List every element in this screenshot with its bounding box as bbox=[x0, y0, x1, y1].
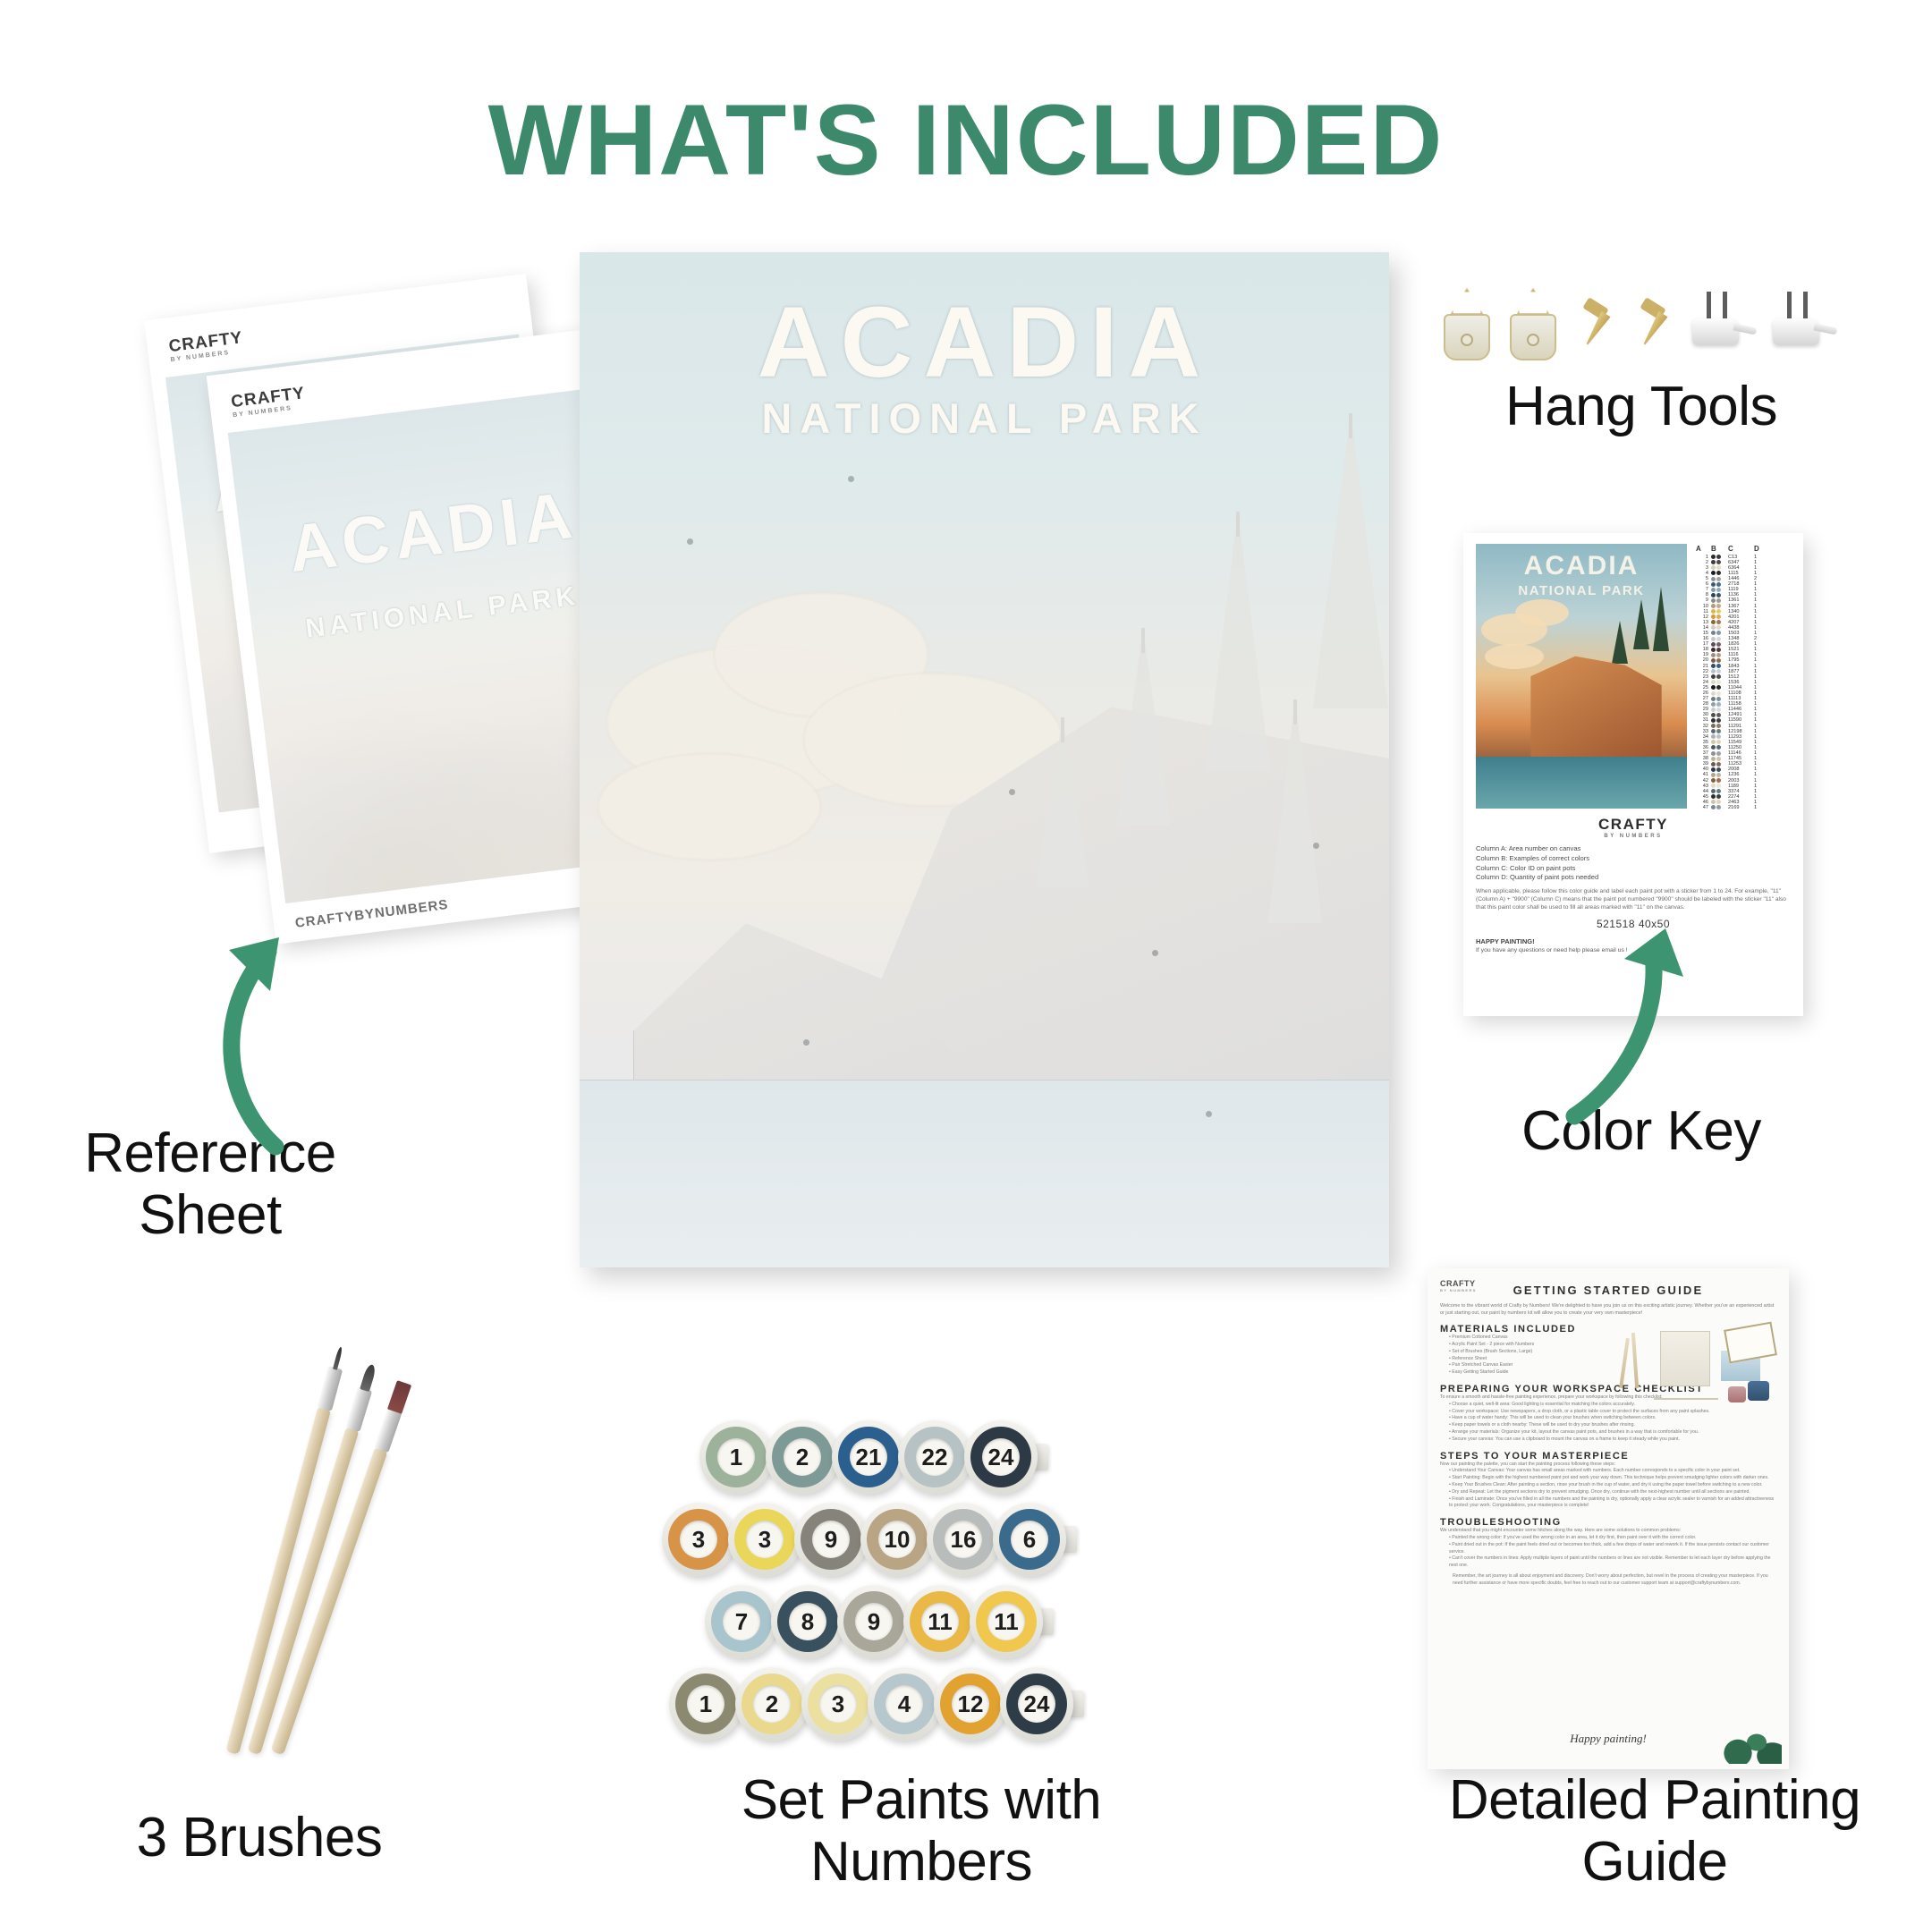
number-dot bbox=[1313, 843, 1319, 849]
paint-pot: 7 bbox=[705, 1585, 778, 1658]
color-key-swatches bbox=[1711, 702, 1725, 707]
canvas-title: ACADIA bbox=[580, 284, 1389, 400]
paint-pot: 2 bbox=[735, 1667, 809, 1741]
paint-pots-group: 1221222433910166789111112341224 bbox=[662, 1420, 1216, 1751]
paint-pot: 11 bbox=[903, 1585, 977, 1658]
paint-pot: 1 bbox=[669, 1667, 742, 1741]
tree-4 bbox=[1036, 717, 1089, 887]
d-ring-hanger-icon bbox=[1442, 287, 1492, 364]
number-dot bbox=[687, 538, 693, 545]
paint-pot: 6 bbox=[993, 1503, 1066, 1576]
paint-pot-number: 21 bbox=[850, 1438, 887, 1476]
color-key-poster-subtitle: NATIONAL PARK bbox=[1476, 583, 1687, 598]
number-dot bbox=[848, 476, 854, 482]
guide-workspace-item: • Secure your canvas: You can use a clip… bbox=[1449, 1436, 1776, 1444]
guide-illustrations bbox=[1606, 1324, 1776, 1422]
wall-hook-icon bbox=[1771, 292, 1835, 360]
legend-column-c: Column C: Color ID on paint pots bbox=[1476, 864, 1791, 874]
paint-pot-number: 2 bbox=[753, 1685, 791, 1723]
paint-pot-number: 10 bbox=[878, 1521, 916, 1558]
color-key-swatches bbox=[1711, 631, 1725, 635]
color-key-swatches bbox=[1711, 789, 1725, 793]
color-key-row: 4721691 bbox=[1696, 805, 1791, 810]
color-key-swatches bbox=[1711, 577, 1725, 581]
guide-title: GETTING STARTED GUIDE bbox=[1440, 1284, 1776, 1297]
paint-pot: 21 bbox=[832, 1420, 905, 1494]
paint-pot-number: 3 bbox=[819, 1685, 857, 1723]
color-key-swatches bbox=[1711, 691, 1725, 696]
wall-hook-icon bbox=[1690, 292, 1755, 360]
paint-pot: 10 bbox=[860, 1503, 934, 1576]
color-key-swatches bbox=[1711, 784, 1725, 788]
paint-pot-row: 12212224 bbox=[699, 1420, 1030, 1494]
paint-pot-number: 9 bbox=[812, 1521, 850, 1558]
paint-pot-number: 11 bbox=[987, 1603, 1025, 1640]
guide-trouble-item: • Painted the wrong color: If you've use… bbox=[1449, 1535, 1776, 1542]
color-key-legend: Column A: Area number on canvas Column B… bbox=[1476, 844, 1791, 883]
guide-trouble-item: • Can't cover the numbers in lines: Appl… bbox=[1449, 1555, 1776, 1570]
color-key-swatches bbox=[1711, 718, 1725, 723]
guide-paint-pot-icon bbox=[1728, 1386, 1746, 1402]
paint-pot: 12 bbox=[934, 1667, 1007, 1741]
guide-step-item: • Dry and Repeat: Let the pigment sectio… bbox=[1449, 1489, 1776, 1496]
crafty-logo: CRAFTY BY NUMBERS bbox=[168, 328, 245, 363]
tree-2 bbox=[1206, 512, 1270, 771]
paint-pot: 22 bbox=[898, 1420, 971, 1494]
color-key-swatches bbox=[1711, 625, 1725, 630]
color-key-swatches bbox=[1711, 642, 1725, 647]
color-key-swatches bbox=[1711, 604, 1725, 608]
guide-intro: Welcome to the vibrant world of Crafty b… bbox=[1440, 1302, 1776, 1317]
guide-heading-trouble: TROUBLESHOOTING bbox=[1440, 1517, 1776, 1528]
color-key-swatches bbox=[1711, 620, 1725, 624]
brush-fine bbox=[225, 1406, 331, 1755]
guide-paint-pot-icon bbox=[1748, 1381, 1769, 1401]
color-key-swatches bbox=[1711, 637, 1725, 641]
d-ring-hanger-icon bbox=[1508, 287, 1558, 364]
paint-pot: 3 bbox=[662, 1503, 735, 1576]
color-key-swatches bbox=[1711, 658, 1725, 663]
paint-pot: 24 bbox=[1000, 1667, 1073, 1741]
water-area bbox=[580, 1080, 1389, 1267]
canvas-subtitle: NATIONAL PARK bbox=[580, 394, 1389, 443]
color-key-swatches bbox=[1711, 724, 1725, 728]
legend-column-d: Column D: Quantity of paint pots needed bbox=[1476, 873, 1791, 883]
infographic-canvas: WHAT'S INCLUDED CRAFTY BY NUMBERS ACADIA… bbox=[0, 0, 1932, 1932]
paint-pot-number: 1 bbox=[717, 1438, 755, 1476]
legend-column-b: Column B: Examples of correct colors bbox=[1476, 854, 1791, 864]
color-key-swatches bbox=[1711, 588, 1725, 592]
arrow-color-key bbox=[1512, 903, 1744, 1136]
color-key-swatches bbox=[1711, 757, 1725, 761]
guide-heading-steps: STEPS TO YOUR MASTERPIECE bbox=[1440, 1451, 1776, 1462]
guide-step-item: • Start Painting: Begin with the highest… bbox=[1449, 1475, 1776, 1482]
tree-3 bbox=[1116, 628, 1170, 825]
hang-tools-group bbox=[1442, 274, 1835, 377]
paint-pot: 16 bbox=[927, 1503, 1000, 1576]
paint-pot: 3 bbox=[801, 1667, 875, 1741]
color-key-area-number: 47 bbox=[1696, 805, 1708, 810]
guide-workspace-item: • Arrange your materials: Organize your … bbox=[1449, 1429, 1776, 1436]
guide-step-item: • Keep Your Brushes Clean: After paintin… bbox=[1449, 1482, 1776, 1489]
color-key-swatches bbox=[1711, 680, 1725, 684]
color-key-swatches bbox=[1711, 648, 1725, 652]
paint-pot-number: 8 bbox=[789, 1603, 826, 1640]
paint-pot-number: 24 bbox=[1018, 1685, 1055, 1723]
cloud-4 bbox=[597, 753, 821, 860]
paint-pot: 3 bbox=[728, 1503, 801, 1576]
paint-pot-row: 12341224 bbox=[669, 1667, 1066, 1741]
paint-pot-number: 3 bbox=[746, 1521, 784, 1558]
paint-pot: 11 bbox=[970, 1585, 1043, 1658]
label-paints: Set Paints with Numbers bbox=[608, 1769, 1234, 1894]
color-key-swatches bbox=[1711, 555, 1725, 559]
legend-column-a: Column A: Area number on canvas bbox=[1476, 844, 1791, 854]
color-key-swatches bbox=[1711, 565, 1725, 570]
color-key-swatches bbox=[1711, 609, 1725, 614]
color-key-swatches bbox=[1711, 685, 1725, 690]
paint-pot-number: 9 bbox=[855, 1603, 893, 1640]
color-key-quantity: 1 bbox=[1754, 805, 1765, 810]
paint-pot: 9 bbox=[837, 1585, 911, 1658]
paint-pot-number: 4 bbox=[885, 1685, 923, 1723]
getting-started-guide: CRAFTY BY NUMBERS GETTING STARTED GUIDE … bbox=[1428, 1268, 1789, 1769]
paint-pot-row: 33910166 bbox=[662, 1503, 1059, 1576]
tree-1 bbox=[1313, 413, 1388, 708]
main-canvas-preview: ACADIA NATIONAL PARK bbox=[580, 252, 1389, 1267]
guide-step-item: • Finish and Laminate: Once you've fille… bbox=[1449, 1496, 1776, 1511]
guide-frame-icon bbox=[1724, 1322, 1777, 1364]
crafty-logo-front: CRAFTY BY NUMBERS bbox=[230, 384, 307, 419]
color-key-color-id: 2169 bbox=[1728, 805, 1751, 810]
number-dot bbox=[1152, 950, 1158, 956]
guide-trouble-item: • Paint dried out in the pot: If the pai… bbox=[1449, 1542, 1776, 1556]
brushes-group bbox=[134, 1315, 429, 1753]
color-key-swatches bbox=[1711, 805, 1725, 809]
paint-pot: 24 bbox=[964, 1420, 1038, 1494]
color-key-swatches bbox=[1711, 697, 1725, 701]
color-key-swatches bbox=[1711, 674, 1725, 679]
color-key-swatches bbox=[1711, 734, 1725, 739]
guide-workspace-item: • Keep paper towels or a cloth nearby: T… bbox=[1449, 1422, 1776, 1429]
guide-closing: Remember, the art journey is all about e… bbox=[1453, 1573, 1776, 1588]
paint-pot: 9 bbox=[794, 1503, 868, 1576]
color-key-swatches bbox=[1711, 593, 1725, 597]
color-key-swatches bbox=[1711, 767, 1725, 772]
color-key-swatches bbox=[1711, 729, 1725, 733]
label-brushes: 3 Brushes bbox=[27, 1807, 492, 1868]
paint-pot-number: 2 bbox=[784, 1438, 821, 1476]
paint-pot-number: 3 bbox=[680, 1521, 717, 1558]
paint-pot-number: 24 bbox=[982, 1438, 1020, 1476]
color-key-swatches bbox=[1711, 664, 1725, 668]
reference-subtitle-front: NATIONAL PARK bbox=[250, 574, 634, 651]
number-dot bbox=[803, 1039, 809, 1046]
color-key-table-header: A B C D bbox=[1696, 546, 1791, 554]
color-key-swatches bbox=[1711, 740, 1725, 744]
label-guide: Detailed Painting Guide bbox=[1377, 1769, 1932, 1894]
paint-pot: 8 bbox=[771, 1585, 844, 1658]
number-dot bbox=[1206, 1111, 1212, 1117]
color-key-poster-title: ACADIA bbox=[1476, 551, 1687, 581]
color-key-swatches bbox=[1711, 582, 1725, 587]
guide-steps-intro: Now our painting the palette, you can st… bbox=[1440, 1462, 1776, 1469]
color-key-swatches bbox=[1711, 713, 1725, 717]
color-key-swatches bbox=[1711, 778, 1725, 783]
guide-brush-icon bbox=[1631, 1333, 1639, 1388]
guide-easel-icon bbox=[1660, 1331, 1710, 1386]
paint-pot-number: 11 bbox=[921, 1603, 959, 1640]
color-key-swatches bbox=[1711, 571, 1725, 575]
color-key-swatches bbox=[1711, 614, 1725, 619]
color-key-swatches bbox=[1711, 598, 1725, 603]
page-title: WHAT'S INCLUDED bbox=[0, 82, 1932, 198]
paint-pot-number: 7 bbox=[723, 1603, 760, 1640]
color-key-swatches bbox=[1711, 669, 1725, 674]
paint-pot-row: 7891111 bbox=[705, 1585, 1036, 1658]
paint-pot-number: 12 bbox=[952, 1685, 989, 1723]
paint-pot: 4 bbox=[868, 1667, 941, 1741]
color-key-swatches bbox=[1711, 708, 1725, 712]
color-key-swatches bbox=[1711, 762, 1725, 767]
label-hang-tools: Hang Tools bbox=[1422, 376, 1860, 437]
screw-icon bbox=[1575, 299, 1616, 352]
color-key-swatches bbox=[1711, 745, 1725, 750]
paint-pot-number: 22 bbox=[916, 1438, 953, 1476]
paint-pot: 2 bbox=[766, 1420, 839, 1494]
color-key-swatches bbox=[1711, 800, 1725, 804]
tree-5 bbox=[1268, 699, 1322, 923]
arrow-reference-sheet bbox=[143, 894, 376, 1163]
paint-pot-number: 16 bbox=[945, 1521, 982, 1558]
color-key-swatches bbox=[1711, 653, 1725, 657]
paint-pot-number: 6 bbox=[1011, 1521, 1048, 1558]
paint-pot-number: 1 bbox=[687, 1685, 724, 1723]
guide-trouble-intro: We understand that you might encounter s… bbox=[1440, 1528, 1776, 1535]
screw-icon bbox=[1632, 299, 1674, 352]
color-key-swatches bbox=[1711, 794, 1725, 799]
guide-brush-icon bbox=[1619, 1338, 1630, 1388]
reference-title-front: ACADIA bbox=[238, 470, 627, 593]
color-key-poster: ACADIA NATIONAL PARK bbox=[1476, 544, 1687, 809]
color-key-brand: CRAFTY BY NUMBERS bbox=[1476, 816, 1791, 839]
leaf-decoration-icon bbox=[1719, 1710, 1782, 1764]
number-dot bbox=[1009, 789, 1015, 795]
color-key-table: A B C D 1C131263471363641411151514462627… bbox=[1696, 544, 1791, 810]
color-key-swatches bbox=[1711, 751, 1725, 756]
color-key-swatches bbox=[1711, 773, 1725, 777]
paint-pot: 1 bbox=[699, 1420, 773, 1494]
color-key-swatches bbox=[1711, 560, 1725, 564]
guide-step-item: • Understand Your Canvas: Your canvas ha… bbox=[1449, 1468, 1776, 1475]
